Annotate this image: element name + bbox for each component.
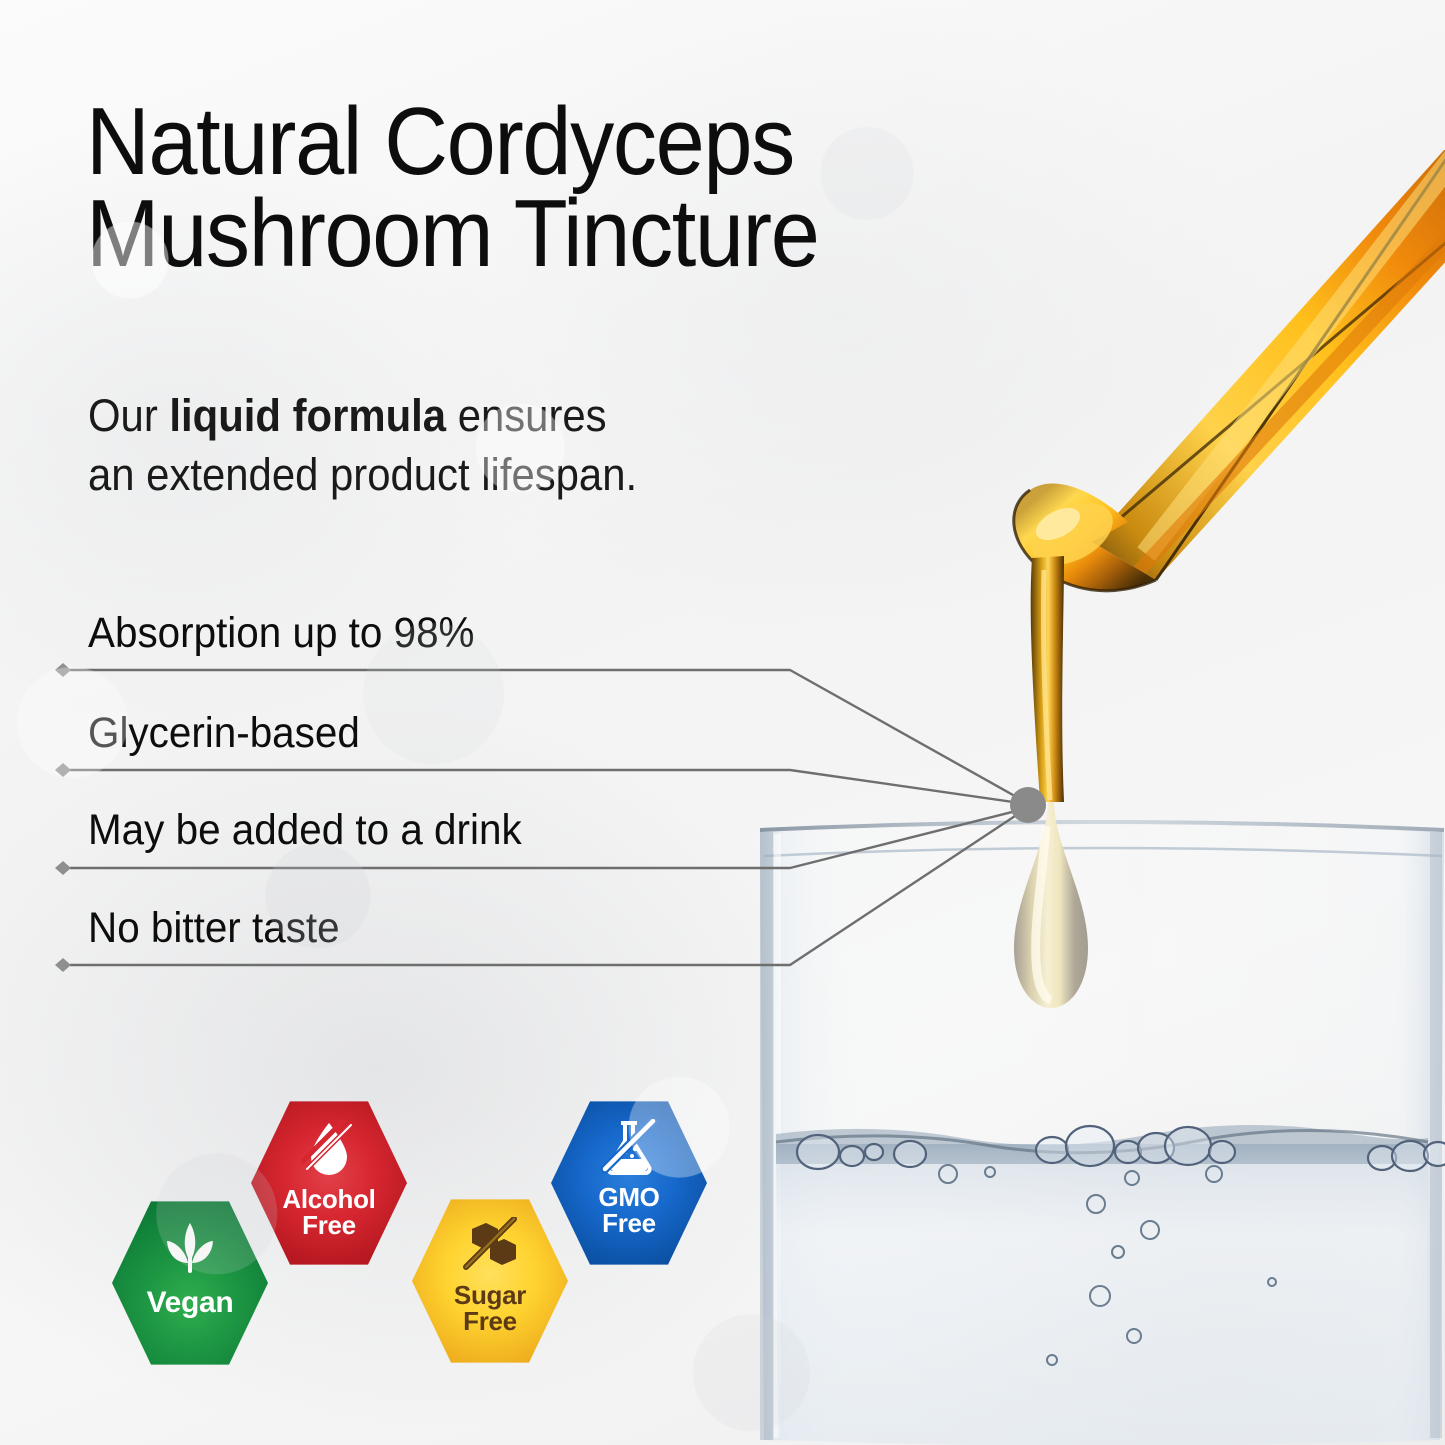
subtitle-line-1: Our liquid formula ensures [88, 386, 795, 445]
infographic-canvas: Natural Cordyceps Mushroom Tincture Our … [0, 0, 1445, 1445]
badge-alcohol-line1: Alcohol [282, 1186, 375, 1212]
no-droplet-icon [299, 1119, 359, 1184]
title-line-2: Mushroom Tincture [86, 188, 1061, 280]
subtitle-suffix: ensures [446, 390, 607, 441]
no-flask-icon [599, 1119, 659, 1182]
badge-gmo-line1: GMO [598, 1184, 659, 1210]
title-line-1: Natural Cordyceps [86, 96, 1061, 188]
badge-sugar-line2: Free [454, 1308, 526, 1334]
feature-label-add-to-drink: May be added to a drink [88, 806, 522, 855]
badge-gmo-line2: Free [598, 1210, 659, 1236]
badge-alcohol-line2: Free [282, 1212, 375, 1238]
badge-sugar-label: Sugar Free [454, 1282, 526, 1334]
badge-vegan-label: Vegan [147, 1288, 234, 1318]
badge-vegan-line1: Vegan [147, 1288, 234, 1318]
no-sugar-cubes-icon [460, 1217, 520, 1280]
leaf-icon [159, 1219, 221, 1286]
subtitle-prefix: Our [88, 390, 169, 441]
badge-gmo-label: GMO Free [598, 1184, 659, 1236]
subtitle-line-2: an extended product lifespan. [88, 445, 795, 504]
feature-label-absorption: Absorption up to 98% [88, 609, 475, 658]
subtitle: Our liquid formula ensures an extended p… [88, 386, 795, 505]
subtitle-emphasis: liquid formula [169, 390, 446, 441]
badge-sugar-free: Sugar Free [412, 1196, 568, 1366]
feature-label-no-bitter-taste: No bitter taste [88, 904, 340, 953]
badge-gmo-free: GMO Free [551, 1098, 707, 1268]
water-glass-image [752, 812, 1445, 1445]
badge-alcohol-free: Alcohol Free [251, 1098, 407, 1268]
badge-alcohol-label: Alcohol Free [282, 1186, 375, 1238]
badge-vegan: Vegan [112, 1198, 268, 1368]
tincture-droplet [996, 800, 1106, 1015]
page-title: Natural Cordyceps Mushroom Tincture [86, 96, 1061, 280]
feature-label-glycerin: Glycerin-based [88, 709, 360, 758]
convergence-dot [1010, 787, 1046, 823]
badge-sugar-line1: Sugar [454, 1282, 526, 1308]
